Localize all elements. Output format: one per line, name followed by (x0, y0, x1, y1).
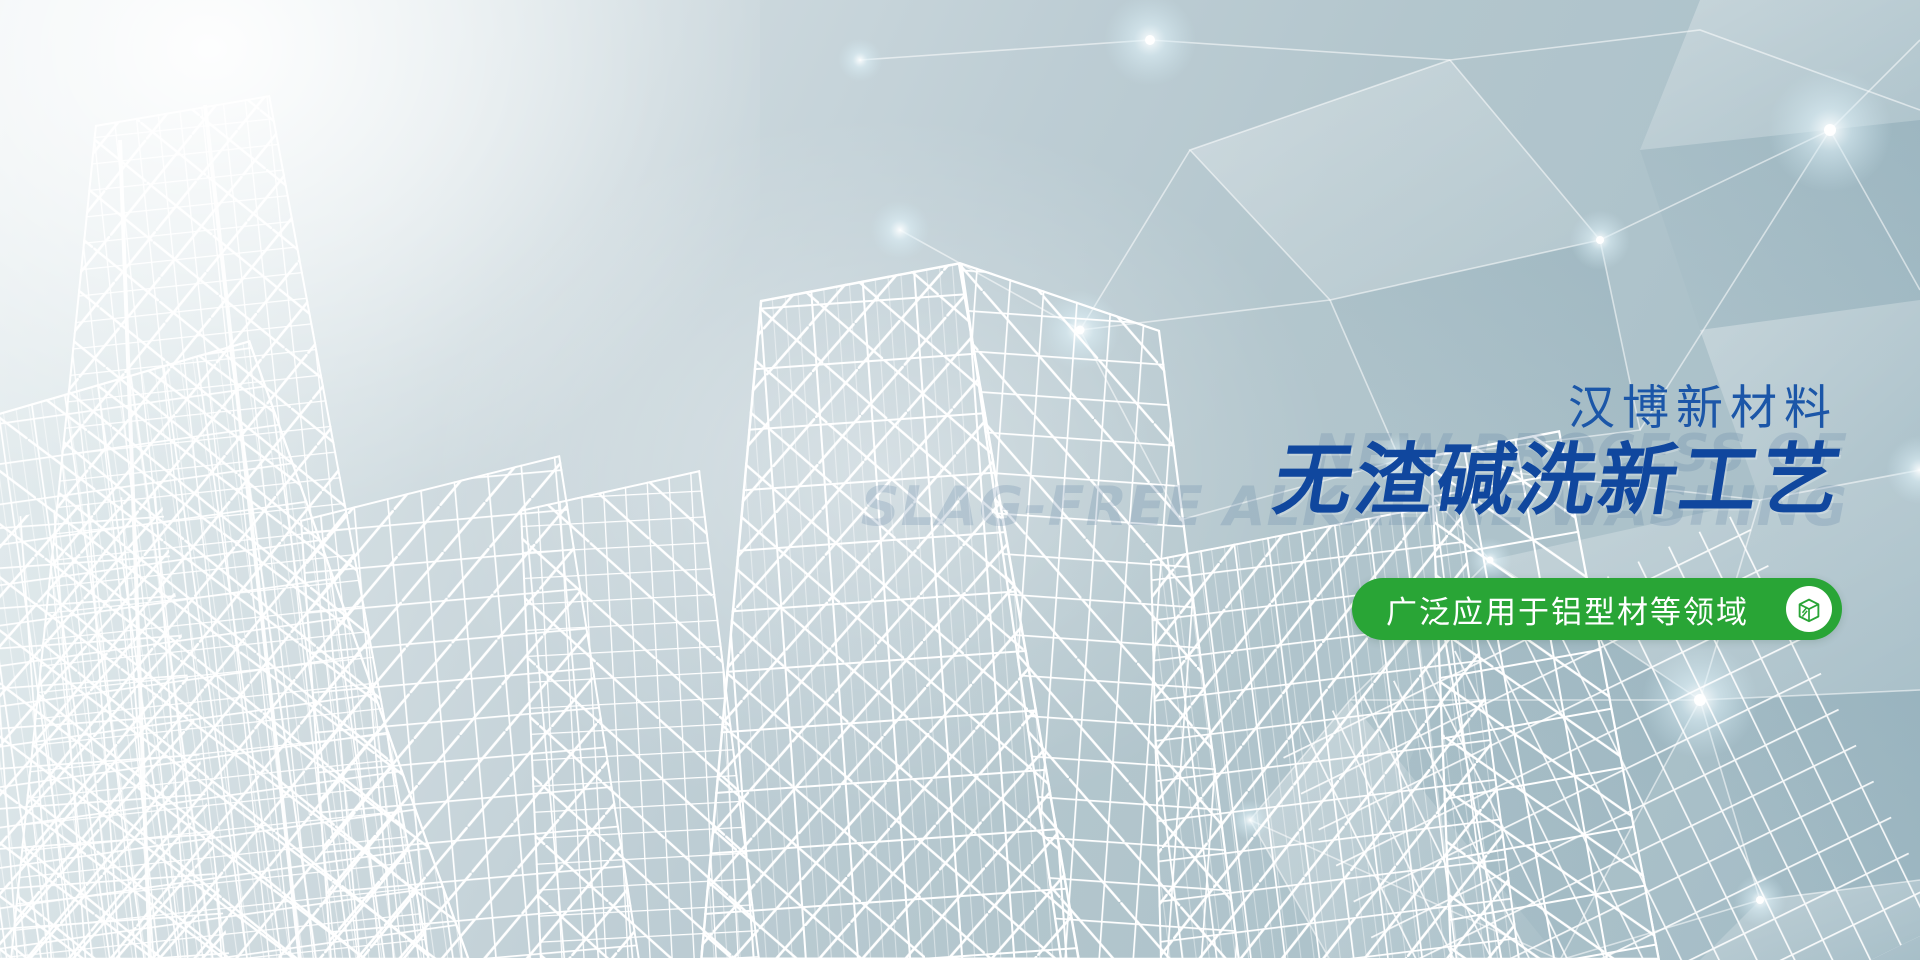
brand-name: 汉博新材料 (862, 385, 1842, 432)
application-badge[interactable]: 广泛应用于铝型材等领域 (1352, 578, 1842, 640)
cube-box-icon (1786, 586, 1832, 632)
headline-block: 汉博新材料 无渣碱洗新工艺 (862, 385, 1842, 522)
hero-banner: NEW PROCESS OF SLAG-FREE ALKALINE WASHIN… (0, 0, 1920, 960)
background-glow-top-left (0, 0, 760, 500)
application-badge-label: 广泛应用于铝型材等领域 (1386, 587, 1775, 632)
page-title: 无渣碱洗新工艺 (856, 442, 1849, 522)
